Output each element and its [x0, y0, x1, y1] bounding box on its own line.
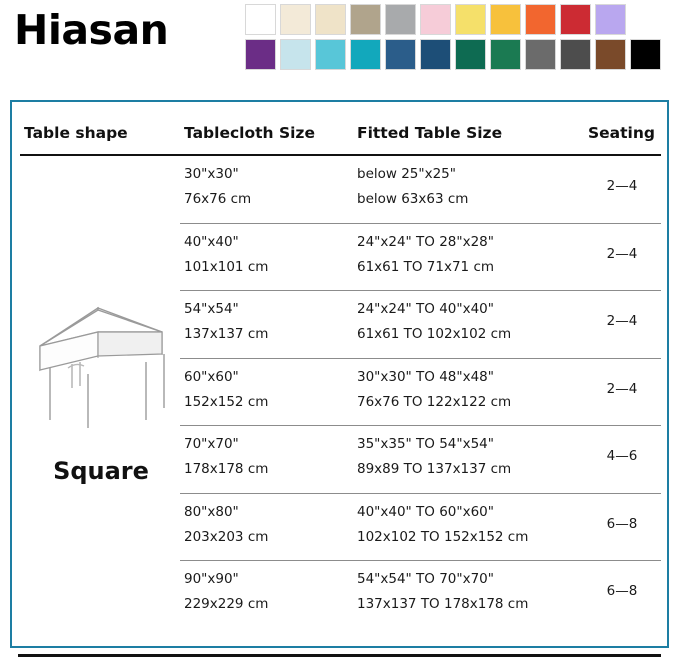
color-swatch[interactable] — [560, 39, 591, 70]
seating-value: 2—4 — [582, 178, 662, 194]
tablecloth-size-cm: 203x203 cm — [184, 529, 268, 545]
table-row: 60"x60"152x152 cm30"x30" TO 48"x48"76x76… — [12, 359, 667, 427]
color-swatch[interactable] — [455, 4, 486, 35]
fitted-size-cm: 76x76 TO 122x122 cm — [357, 394, 511, 410]
tablecloth-size-inches: 54"x54" — [184, 301, 239, 317]
table-row: 90"x90"229x229 cm54"x54" TO 70"x70"137x1… — [12, 561, 667, 629]
color-swatch[interactable] — [385, 39, 416, 70]
fitted-size-inches: 35"x35" TO 54"x54" — [357, 436, 494, 452]
tablecloth-size-cm: 229x229 cm — [184, 596, 268, 612]
color-swatch[interactable] — [245, 39, 276, 70]
swatch-row-1 — [245, 4, 673, 35]
color-swatch[interactable] — [630, 39, 661, 70]
seating-value: 6—8 — [582, 516, 662, 532]
seating-value: 2—4 — [582, 313, 662, 329]
color-swatch-grid — [245, 4, 673, 74]
color-swatch[interactable] — [385, 4, 416, 35]
table-row: 70"x70"178x178 cm35"x35" TO 54"x54"89x89… — [12, 426, 667, 494]
table-row: 80"x80"203x203 cm40"x40" TO 60"x60"102x1… — [12, 494, 667, 562]
fitted-size-inches: below 25"x25" — [357, 166, 456, 182]
fitted-size-cm: 61x61 TO 71x71 cm — [357, 259, 494, 275]
color-swatch[interactable] — [280, 39, 311, 70]
color-swatch[interactable] — [420, 4, 451, 35]
seating-value: 4—6 — [582, 448, 662, 464]
color-swatch[interactable] — [420, 39, 451, 70]
color-swatch[interactable] — [455, 39, 486, 70]
color-swatch[interactable] — [280, 4, 311, 35]
size-chart-card: Table shape Tablecloth Size Fitted Table… — [10, 100, 669, 648]
color-swatch[interactable] — [350, 39, 381, 70]
header: Hiasan — [0, 0, 679, 92]
color-swatch[interactable] — [490, 4, 521, 35]
fitted-size-inches: 40"x40" TO 60"x60" — [357, 504, 494, 520]
seating-value: 2—4 — [582, 246, 662, 262]
table-row: 40"x40"101x101 cm24"x24" TO 28"x28"61x61… — [12, 224, 667, 292]
fitted-size-inches: 24"x24" TO 40"x40" — [357, 301, 494, 317]
fitted-size-cm: 137x137 TO 178x178 cm — [357, 596, 528, 612]
fitted-size-inches: 30"x30" TO 48"x48" — [357, 369, 494, 385]
tablecloth-size-inches: 30"x30" — [184, 166, 239, 182]
fitted-size-cm: 102x102 TO 152x152 cm — [357, 529, 528, 545]
column-header-tablecloth-size: Tablecloth Size — [184, 124, 315, 142]
color-swatch[interactable] — [525, 4, 556, 35]
bottom-divider — [18, 654, 661, 657]
color-swatch[interactable] — [315, 39, 346, 70]
column-header-shape: Table shape — [24, 124, 128, 142]
size-chart-page: Hiasan Table shape Tablecloth Size Fitte… — [0, 0, 679, 672]
seating-value: 2—4 — [582, 381, 662, 397]
color-swatch[interactable] — [595, 39, 626, 70]
seating-value: 6—8 — [582, 583, 662, 599]
tablecloth-size-inches: 70"x70" — [184, 436, 239, 452]
color-swatch[interactable] — [245, 4, 276, 35]
column-header-seating: Seating — [588, 124, 655, 142]
swatch-row-2 — [245, 39, 673, 70]
fitted-size-cm: 61x61 TO 102x102 cm — [357, 326, 511, 342]
brand-logo: Hiasan — [14, 10, 168, 51]
tablecloth-size-cm: 101x101 cm — [184, 259, 268, 275]
table-row: 30"x30"76x76 cmbelow 25"x25"below 63x63 … — [12, 156, 667, 224]
color-swatch[interactable] — [560, 4, 591, 35]
table-row: 54"x54"137x137 cm24"x24" TO 40"x40"61x61… — [12, 291, 667, 359]
size-rows: 30"x30"76x76 cmbelow 25"x25"below 63x63 … — [12, 156, 667, 629]
fitted-size-cm: below 63x63 cm — [357, 191, 468, 207]
column-header-fitted-table-size: Fitted Table Size — [357, 124, 502, 142]
color-swatch[interactable] — [315, 4, 346, 35]
tablecloth-size-inches: 80"x80" — [184, 504, 239, 520]
tablecloth-size-cm: 137x137 cm — [184, 326, 268, 342]
fitted-size-inches: 54"x54" TO 70"x70" — [357, 571, 494, 587]
tablecloth-size-inches: 40"x40" — [184, 234, 239, 250]
tablecloth-size-cm: 152x152 cm — [184, 394, 268, 410]
tablecloth-size-inches: 90"x90" — [184, 571, 239, 587]
color-swatch[interactable] — [350, 4, 381, 35]
fitted-size-cm: 89x89 TO 137x137 cm — [357, 461, 511, 477]
fitted-size-inches: 24"x24" TO 28"x28" — [357, 234, 494, 250]
tablecloth-size-inches: 60"x60" — [184, 369, 239, 385]
tablecloth-size-cm: 76x76 cm — [184, 191, 251, 207]
color-swatch[interactable] — [595, 4, 626, 35]
color-swatch[interactable] — [525, 39, 556, 70]
tablecloth-size-cm: 178x178 cm — [184, 461, 268, 477]
color-swatch[interactable] — [490, 39, 521, 70]
